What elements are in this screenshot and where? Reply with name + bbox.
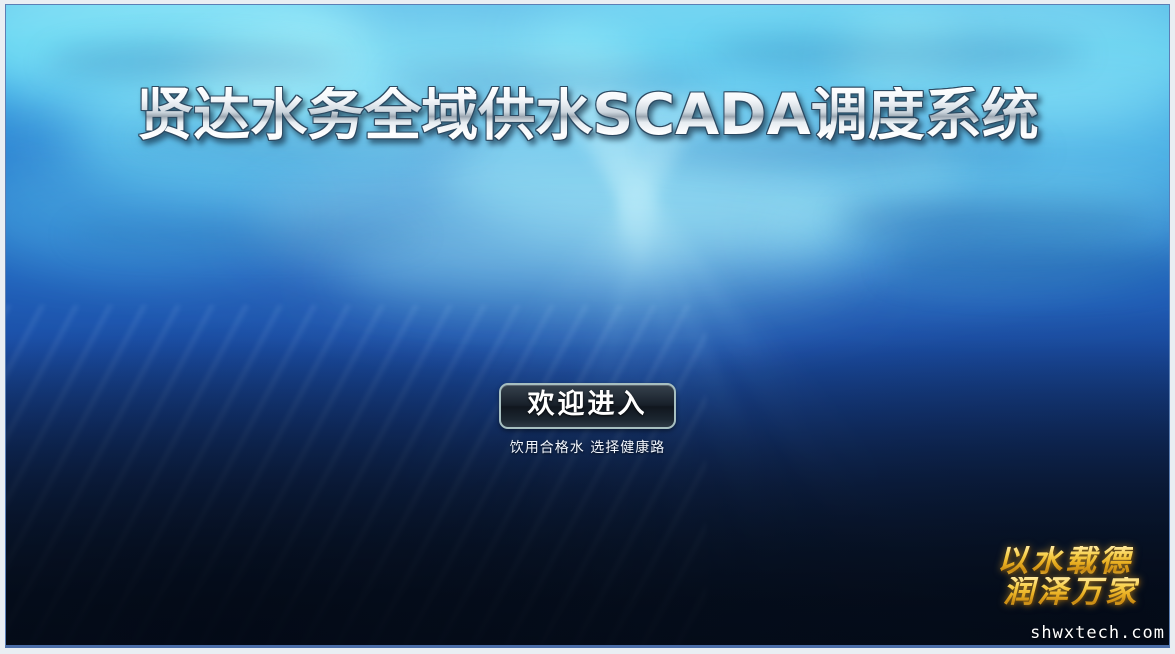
- calligraphy-line-1: 以水载德: [969, 546, 1133, 578]
- window-inner-border: 贤达水务全域供水SCADA调度系统 欢迎进入 饮用合格水 选择健康路 以水载德 …: [5, 4, 1170, 648]
- page-title: 贤达水务全域供水SCADA调度系统: [6, 87, 1169, 144]
- application-window: 贤达水务全域供水SCADA调度系统 欢迎进入 饮用合格水 选择健康路 以水载德 …: [0, 0, 1175, 654]
- system-title-text: 贤达水务全域供水SCADA调度系统: [136, 87, 1038, 144]
- site-watermark: shwxtech.com: [1030, 623, 1165, 643]
- enter-section: 欢迎进入 饮用合格水 选择健康路: [6, 383, 1169, 457]
- calligraphy-line-2: 润泽万家: [969, 577, 1139, 609]
- calligraphy-block: 以水载德 润泽万家: [969, 546, 1133, 609]
- slogan-text: 饮用合格水 选择健康路: [6, 437, 1169, 457]
- enter-button[interactable]: 欢迎进入: [499, 383, 676, 429]
- enter-button-label: 欢迎进入: [528, 389, 648, 420]
